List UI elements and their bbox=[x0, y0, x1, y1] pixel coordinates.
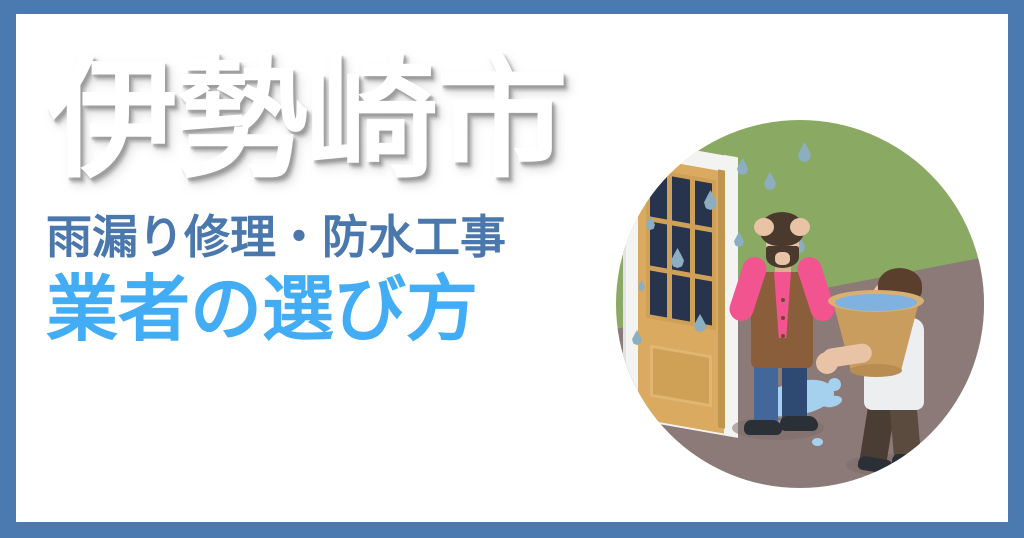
door-pane bbox=[695, 229, 712, 276]
bucket-water bbox=[835, 294, 917, 311]
person-shoe-right bbox=[892, 454, 928, 468]
door-lower-panel bbox=[650, 345, 712, 408]
person-with-bucket bbox=[816, 268, 946, 474]
person-shoe-right bbox=[780, 416, 818, 431]
door-pane bbox=[695, 278, 712, 325]
vest-button bbox=[781, 334, 785, 338]
vest-button bbox=[781, 298, 785, 302]
main-headline: 業者の選び方 bbox=[46, 271, 686, 349]
person-hand-right bbox=[790, 218, 810, 236]
banner-frame: 伊勢崎市 雨漏り修理・防水工事 業者の選び方 bbox=[0, 0, 1024, 538]
person-chin bbox=[775, 252, 790, 265]
person-hand bbox=[816, 352, 838, 374]
door-edge bbox=[718, 169, 725, 428]
person-shoe-left bbox=[744, 420, 782, 435]
service-subtitle: 雨漏り修理・防水工事 bbox=[46, 212, 686, 263]
city-title: 伊勢崎市 bbox=[46, 54, 686, 186]
bucket-base bbox=[850, 364, 902, 377]
text-block: 伊勢崎市 雨漏り修理・防水工事 業者の選び方 bbox=[46, 54, 686, 348]
vest-button bbox=[781, 316, 785, 320]
banner-canvas: 伊勢崎市 雨漏り修理・防水工事 業者の選び方 bbox=[16, 14, 1008, 522]
person-leg-left bbox=[754, 360, 778, 426]
person-hand-left bbox=[754, 218, 774, 236]
